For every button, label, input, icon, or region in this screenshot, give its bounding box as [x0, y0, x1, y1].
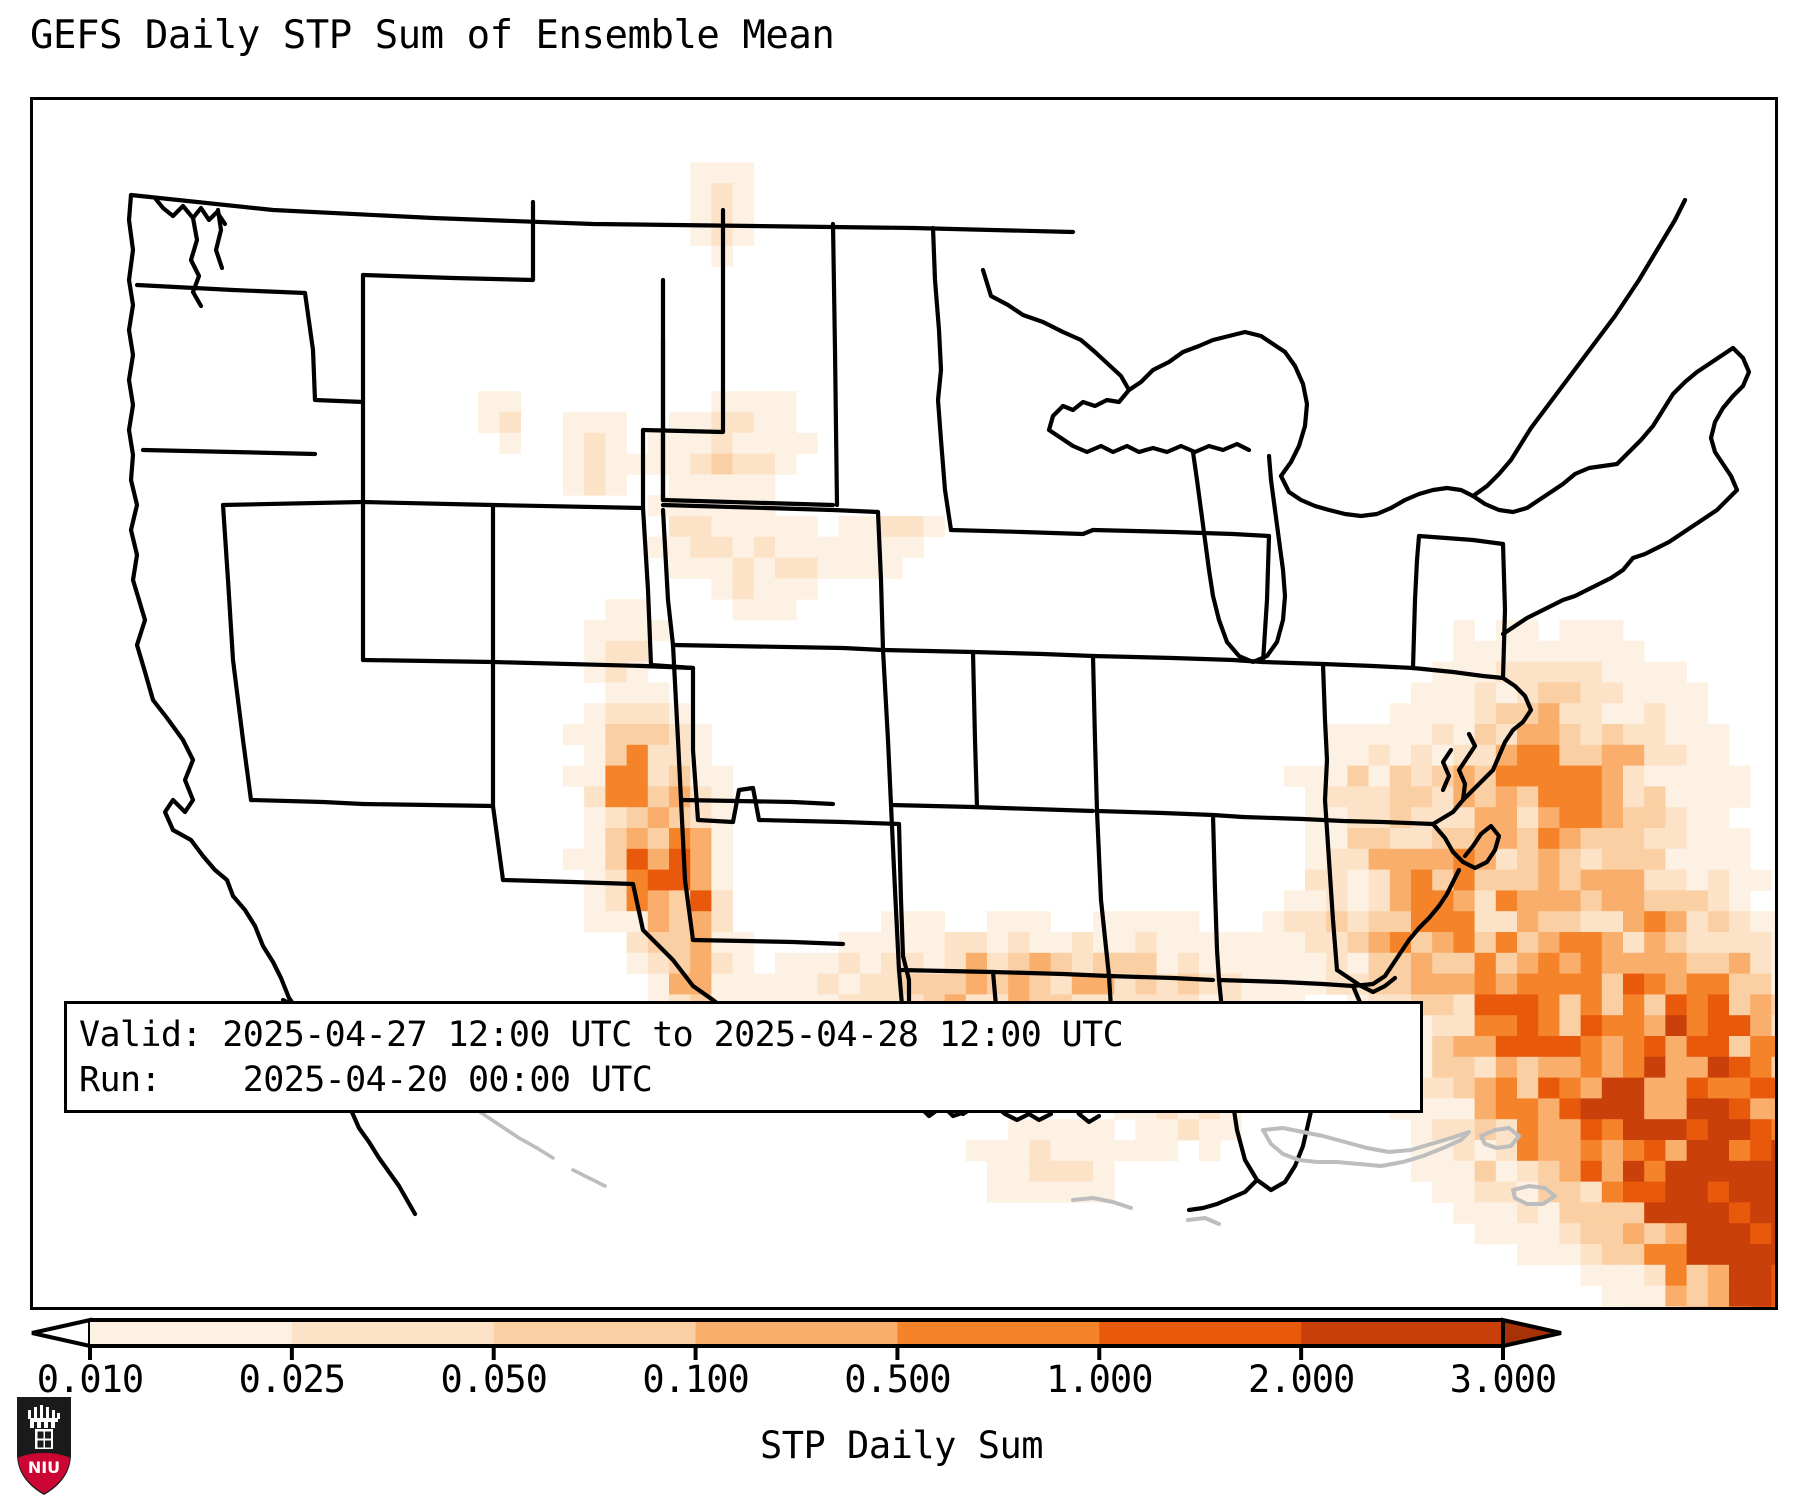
niu-logo-text: NIU — [28, 1458, 60, 1477]
page-title: GEFS Daily STP Sum of Ensemble Mean — [30, 16, 834, 55]
colorbar-axis-label: STP Daily Sum — [0, 1424, 1803, 1467]
colorbar-tick-label: 0.100 — [642, 1358, 748, 1401]
map-frame: Valid: 2025-04-27 12:00 UTC to 2025-04-2… — [30, 97, 1778, 1310]
colorbar-band — [696, 1320, 898, 1346]
forecast-info-box: Valid: 2025-04-27 12:00 UTC to 2025-04-2… — [64, 1001, 1423, 1113]
colorbar-band — [292, 1320, 494, 1346]
colorbar-tick-label: 2.000 — [1248, 1358, 1354, 1401]
colorbar-band — [494, 1320, 696, 1346]
geography-layer — [33, 100, 1775, 1307]
colorbar-tick-label: 0.025 — [239, 1358, 345, 1401]
colorbar-band — [897, 1320, 1099, 1346]
colorbar-tick-label: 0.010 — [37, 1358, 143, 1401]
colorbar-band — [1099, 1320, 1301, 1346]
colorbar-band — [1301, 1320, 1503, 1346]
niu-shield-logo: NIU — [16, 1396, 72, 1496]
valid-time-line: Valid: 2025-04-27 12:00 UTC to 2025-04-2… — [79, 1013, 1420, 1058]
colorbar: 0.0100.0250.0500.1000.5001.0002.0003.000 — [0, 1316, 1803, 1376]
weather-map-figure: GEFS Daily STP Sum of Ensemble Mean — [0, 0, 1803, 1500]
colorbar-tick-labels: 0.0100.0250.0500.1000.5001.0002.0003.000 — [0, 1358, 1803, 1408]
colorbar-tick-label: 1.000 — [1046, 1358, 1152, 1401]
map-canvas — [33, 100, 1775, 1307]
colorbar-tick-label: 0.050 — [441, 1358, 547, 1401]
colorbar-tick-label: 3.000 — [1450, 1358, 1556, 1401]
colorbar-under-arrow — [32, 1320, 90, 1346]
colorbar-band — [90, 1320, 292, 1346]
run-time-line: Run: 2025-04-20 00:00 UTC — [79, 1058, 1420, 1103]
colorbar-over-arrow — [1503, 1320, 1561, 1346]
colorbar-tick-label: 0.500 — [844, 1358, 950, 1401]
